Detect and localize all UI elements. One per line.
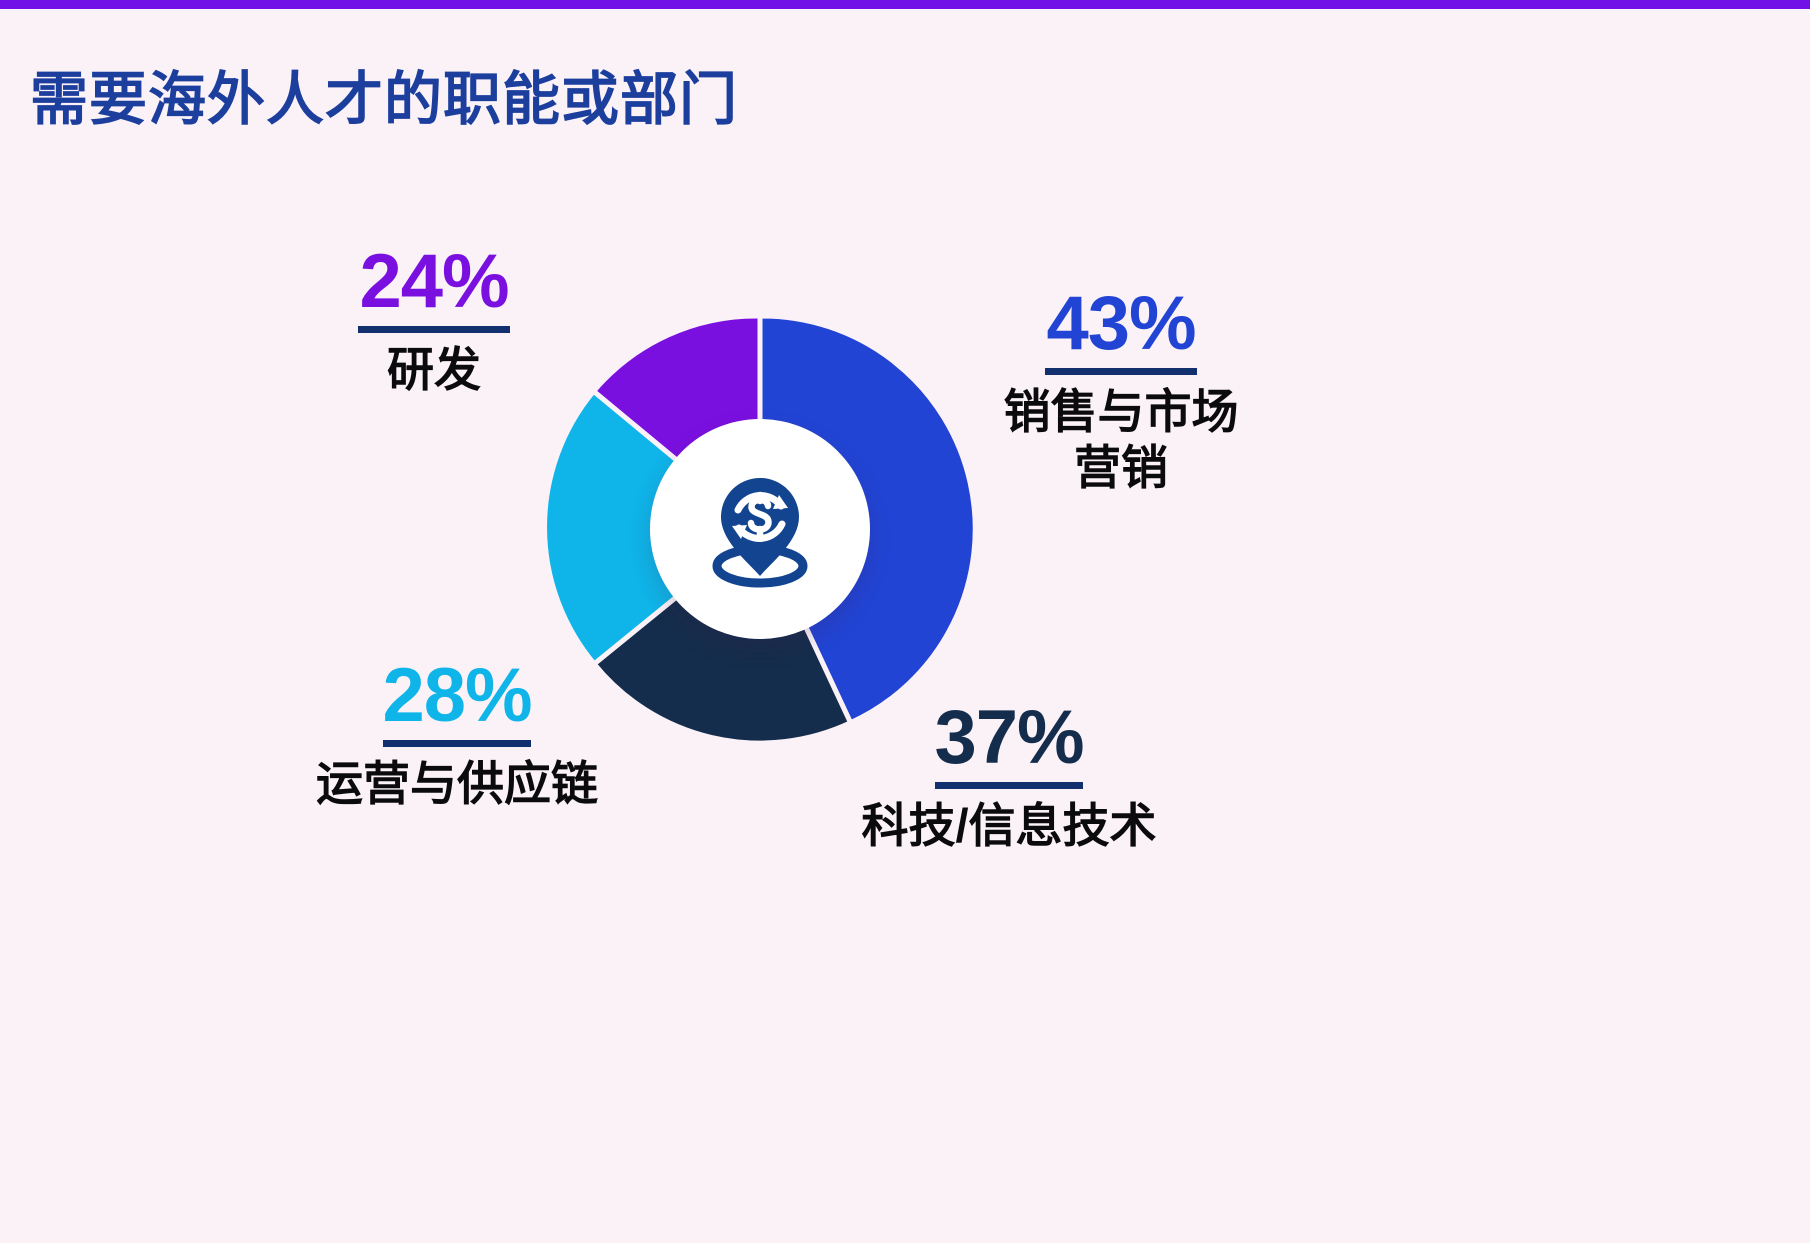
stat-label-research-development: 24% 研发 bbox=[284, 246, 584, 398]
stat-name-sales-marketing-line2: 营销 bbox=[1074, 441, 1168, 494]
stat-name-sales-marketing-line1: 销售与市场 bbox=[1004, 385, 1239, 438]
stat-underline-research-development bbox=[358, 326, 510, 333]
stat-name-research-development: 研发 bbox=[284, 342, 584, 397]
top-accent-bar bbox=[0, 0, 1810, 9]
stat-name-tech-it: 科技/信息技术 bbox=[820, 798, 1198, 853]
stat-underline-sales-marketing bbox=[1045, 368, 1197, 375]
stat-name-sales-marketing: 销售与市场 营销 bbox=[968, 384, 1274, 495]
stat-label-tech-it: 37% 科技/信息技术 bbox=[820, 702, 1198, 854]
stat-value-operations-supply-chain: 28% bbox=[382, 660, 531, 738]
stat-value-tech-it: 37% bbox=[934, 702, 1083, 780]
stat-underline-tech-it bbox=[935, 782, 1083, 789]
stat-value-research-development: 24% bbox=[359, 246, 508, 324]
stat-underline-operations-supply-chain bbox=[383, 740, 531, 747]
stat-value-sales-marketing: 43% bbox=[1046, 288, 1195, 366]
stat-name-operations-supply-chain: 运营与供应链 bbox=[278, 756, 636, 811]
stat-label-sales-marketing: 43% 销售与市场 营销 bbox=[968, 288, 1274, 495]
location-pin-money-exchange-icon bbox=[693, 462, 827, 596]
page-title: 需要海外人才的职能或部门 bbox=[30, 67, 738, 134]
stat-label-operations-supply-chain: 28% 运营与供应链 bbox=[278, 660, 636, 812]
